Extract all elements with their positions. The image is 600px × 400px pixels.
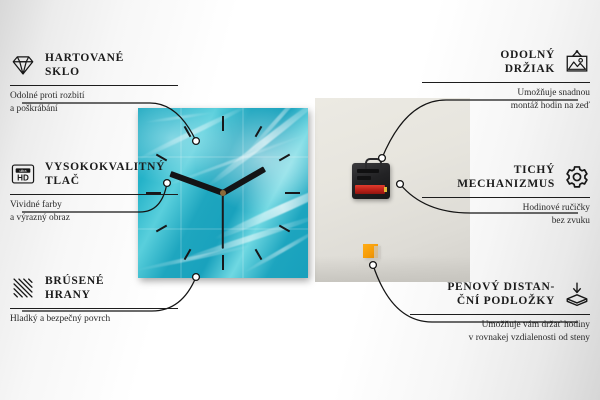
feature-header: TICHÝ MECHANIZMUS <box>422 160 590 194</box>
feature-description: Umožňuje vám držať hodiny v rovnakej vzd… <box>410 319 590 344</box>
feature-tempered-glass: HARTOVANÉ SKLO Odolné proti rozbití a po… <box>10 48 178 115</box>
feature-title: ODOLNÝ DRŽIAK <box>500 48 555 77</box>
feature-hd-print: ultra HD VYSOKOKVALITNÝ TLAČ Vividné far… <box>10 157 178 224</box>
feature-divider <box>422 197 590 198</box>
movement-detail <box>357 169 379 173</box>
movement-hanger-hook <box>365 158 382 169</box>
feature-header: HARTOVANÉ SKLO <box>10 48 178 82</box>
feature-holder: ODOLNÝ DRŽIAK Umožňuje snadnou montáž ho… <box>422 45 590 112</box>
feature-description: Hladký a bezpečný povrch <box>10 313 178 326</box>
feature-description: Odolné proti rozbití a poškrábání <box>10 90 178 115</box>
ultra-hd-icon: ultra HD <box>10 161 36 187</box>
svg-text:ultra: ultra <box>20 169 27 173</box>
picture-hanger-icon <box>564 49 590 75</box>
feature-title: HARTOVANÉ SKLO <box>45 51 124 80</box>
feature-foam-pads: PENOVÝ DISTAN- ČNÍ PODLOŽKY Umožňuje vám… <box>410 277 590 344</box>
foam-spacer-pad <box>363 244 378 258</box>
beveled-edge-icon <box>10 275 36 301</box>
feature-divider <box>10 194 178 195</box>
feature-title: VYSOKOKVALITNÝ TLAČ <box>45 160 165 189</box>
clock-center-cap <box>220 190 226 196</box>
feature-title: TICHÝ MECHANIZMUS <box>457 163 555 192</box>
diamond-icon <box>10 52 36 78</box>
feature-beveled-edge: BRÚSENÉ HRANY Hladký a bezpečný povrch <box>10 271 178 326</box>
feature-description: Vividné farby a výrazný obraz <box>10 199 178 224</box>
feature-silent-mechanism: TICHÝ MECHANIZMUS Hodinové ručičky bez z… <box>422 160 590 227</box>
feature-divider <box>10 85 178 86</box>
battery <box>355 185 385 194</box>
feature-title: BRÚSENÉ HRANY <box>45 274 104 303</box>
svg-text:HD: HD <box>17 174 29 183</box>
feature-divider <box>10 308 178 309</box>
product-photo <box>130 98 470 284</box>
feature-header: BRÚSENÉ HRANY <box>10 271 178 305</box>
product-infographic: HARTOVANÉ SKLO Odolné proti rozbití a po… <box>0 0 600 400</box>
feature-description: Umožňuje snadnou montáž hodin na zeď <box>422 87 590 112</box>
feature-header: ODOLNÝ DRŽIAK <box>422 45 590 79</box>
feature-divider <box>422 82 590 83</box>
feature-description: Hodinové ručičky bez zvuku <box>422 202 590 227</box>
movement-detail <box>357 176 371 180</box>
feature-title: PENOVÝ DISTAN- ČNÍ PODLOŽKY <box>447 280 555 309</box>
foam-pad-icon <box>564 281 590 307</box>
gear-icon <box>564 164 590 190</box>
feature-divider <box>410 314 590 315</box>
quartz-clock-movement <box>352 163 390 199</box>
feature-header: ultra HD VYSOKOKVALITNÝ TLAČ <box>10 157 178 191</box>
clock-second-hand <box>222 191 224 249</box>
feather-streak <box>138 244 253 273</box>
feature-header: PENOVÝ DISTAN- ČNÍ PODLOŽKY <box>410 277 590 311</box>
